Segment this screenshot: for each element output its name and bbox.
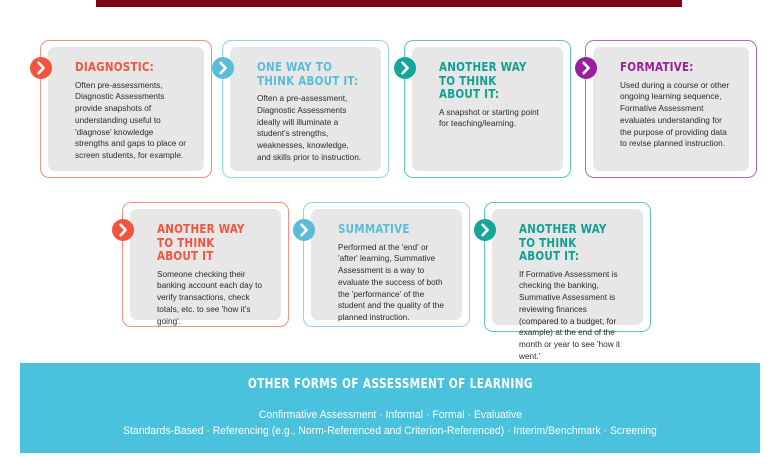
card-inner-panel: FORMATIVE:Used during a course or other …	[593, 47, 749, 171]
top-accent-bar	[96, 0, 682, 7]
card-title: ANOTHER WAY TO THINK ABOUT IT	[157, 222, 259, 263]
card-summ-way[interactable]: ANOTHER WAY TO THINK ABOUT IT:If Formati…	[484, 202, 651, 332]
card-body-text: Often pre-assessments, Diagnostic Assess…	[75, 80, 186, 163]
chevron-right-circle-icon	[394, 57, 416, 79]
card-inner-panel: DIAGNOSTIC:Often pre-assessments, Diagno…	[48, 47, 204, 171]
card-body-text: Performed at the 'end' or 'after' learni…	[338, 242, 445, 325]
card-inner-panel: ANOTHER WAY TO THINK ABOUT ITSomeone che…	[130, 209, 281, 320]
card-formative[interactable]: FORMATIVE:Used during a course or other …	[585, 40, 757, 178]
card-title: ONE WAY TO THINK ABOUT IT:	[257, 60, 359, 87]
card-body-text: Often a pre-assessment, Diagnostic Asses…	[257, 93, 364, 164]
chevron-right-circle-icon	[474, 219, 496, 241]
chevron-right-circle-icon	[30, 57, 52, 79]
card-inner-panel: ANOTHER WAY TO THINK ABOUT IT:If Formati…	[492, 209, 643, 325]
card-diag-way1[interactable]: ONE WAY TO THINK ABOUT IT:Often a pre-as…	[222, 40, 389, 178]
banner-line-2: Standards-Based · Referencing (e.g., Nor…	[123, 423, 657, 439]
card-body-text: If Formative Assessment is checking the …	[519, 269, 626, 363]
card-inner-panel: SUMMATIVEPerformed at the 'end' or 'afte…	[311, 209, 462, 320]
banner-line-1: Confirmative Assessment · Informal · For…	[258, 407, 521, 423]
card-title: ANOTHER WAY TO THINK ABOUT IT:	[519, 222, 621, 263]
chevron-right-circle-icon	[112, 219, 134, 241]
card-title: FORMATIVE:	[620, 60, 727, 74]
card-summative[interactable]: SUMMATIVEPerformed at the 'end' or 'afte…	[303, 202, 470, 327]
chevron-right-circle-icon	[212, 57, 234, 79]
card-body-text: Someone checking their banking account e…	[157, 269, 264, 328]
card-inner-panel: ONE WAY TO THINK ABOUT IT:Often a pre-as…	[230, 47, 381, 171]
card-inner-panel: ANOTHER WAY TO THINK ABOUT IT:A snapshot…	[412, 47, 563, 171]
card-title: ANOTHER WAY TO THINK ABOUT IT:	[439, 60, 541, 101]
chevron-right-circle-icon	[575, 57, 597, 79]
card-diag-way2[interactable]: ANOTHER WAY TO THINK ABOUT IT:A snapshot…	[404, 40, 571, 178]
card-title: SUMMATIVE	[338, 222, 440, 236]
card-body-text: Used during a course or other ongoing le…	[620, 80, 731, 151]
card-diagnostic[interactable]: DIAGNOSTIC:Often pre-assessments, Diagno…	[40, 40, 212, 178]
chevron-right-circle-icon	[293, 219, 315, 241]
other-forms-banner: OTHER FORMS OF ASSESSMENT OF LEARNING Co…	[20, 363, 760, 453]
card-form-way[interactable]: ANOTHER WAY TO THINK ABOUT ITSomeone che…	[122, 202, 289, 327]
card-body-text: A snapshot or starting point for teachin…	[439, 107, 546, 131]
card-title: DIAGNOSTIC:	[75, 60, 182, 74]
banner-title: OTHER FORMS OF ASSESSMENT OF LEARNING	[247, 377, 532, 392]
